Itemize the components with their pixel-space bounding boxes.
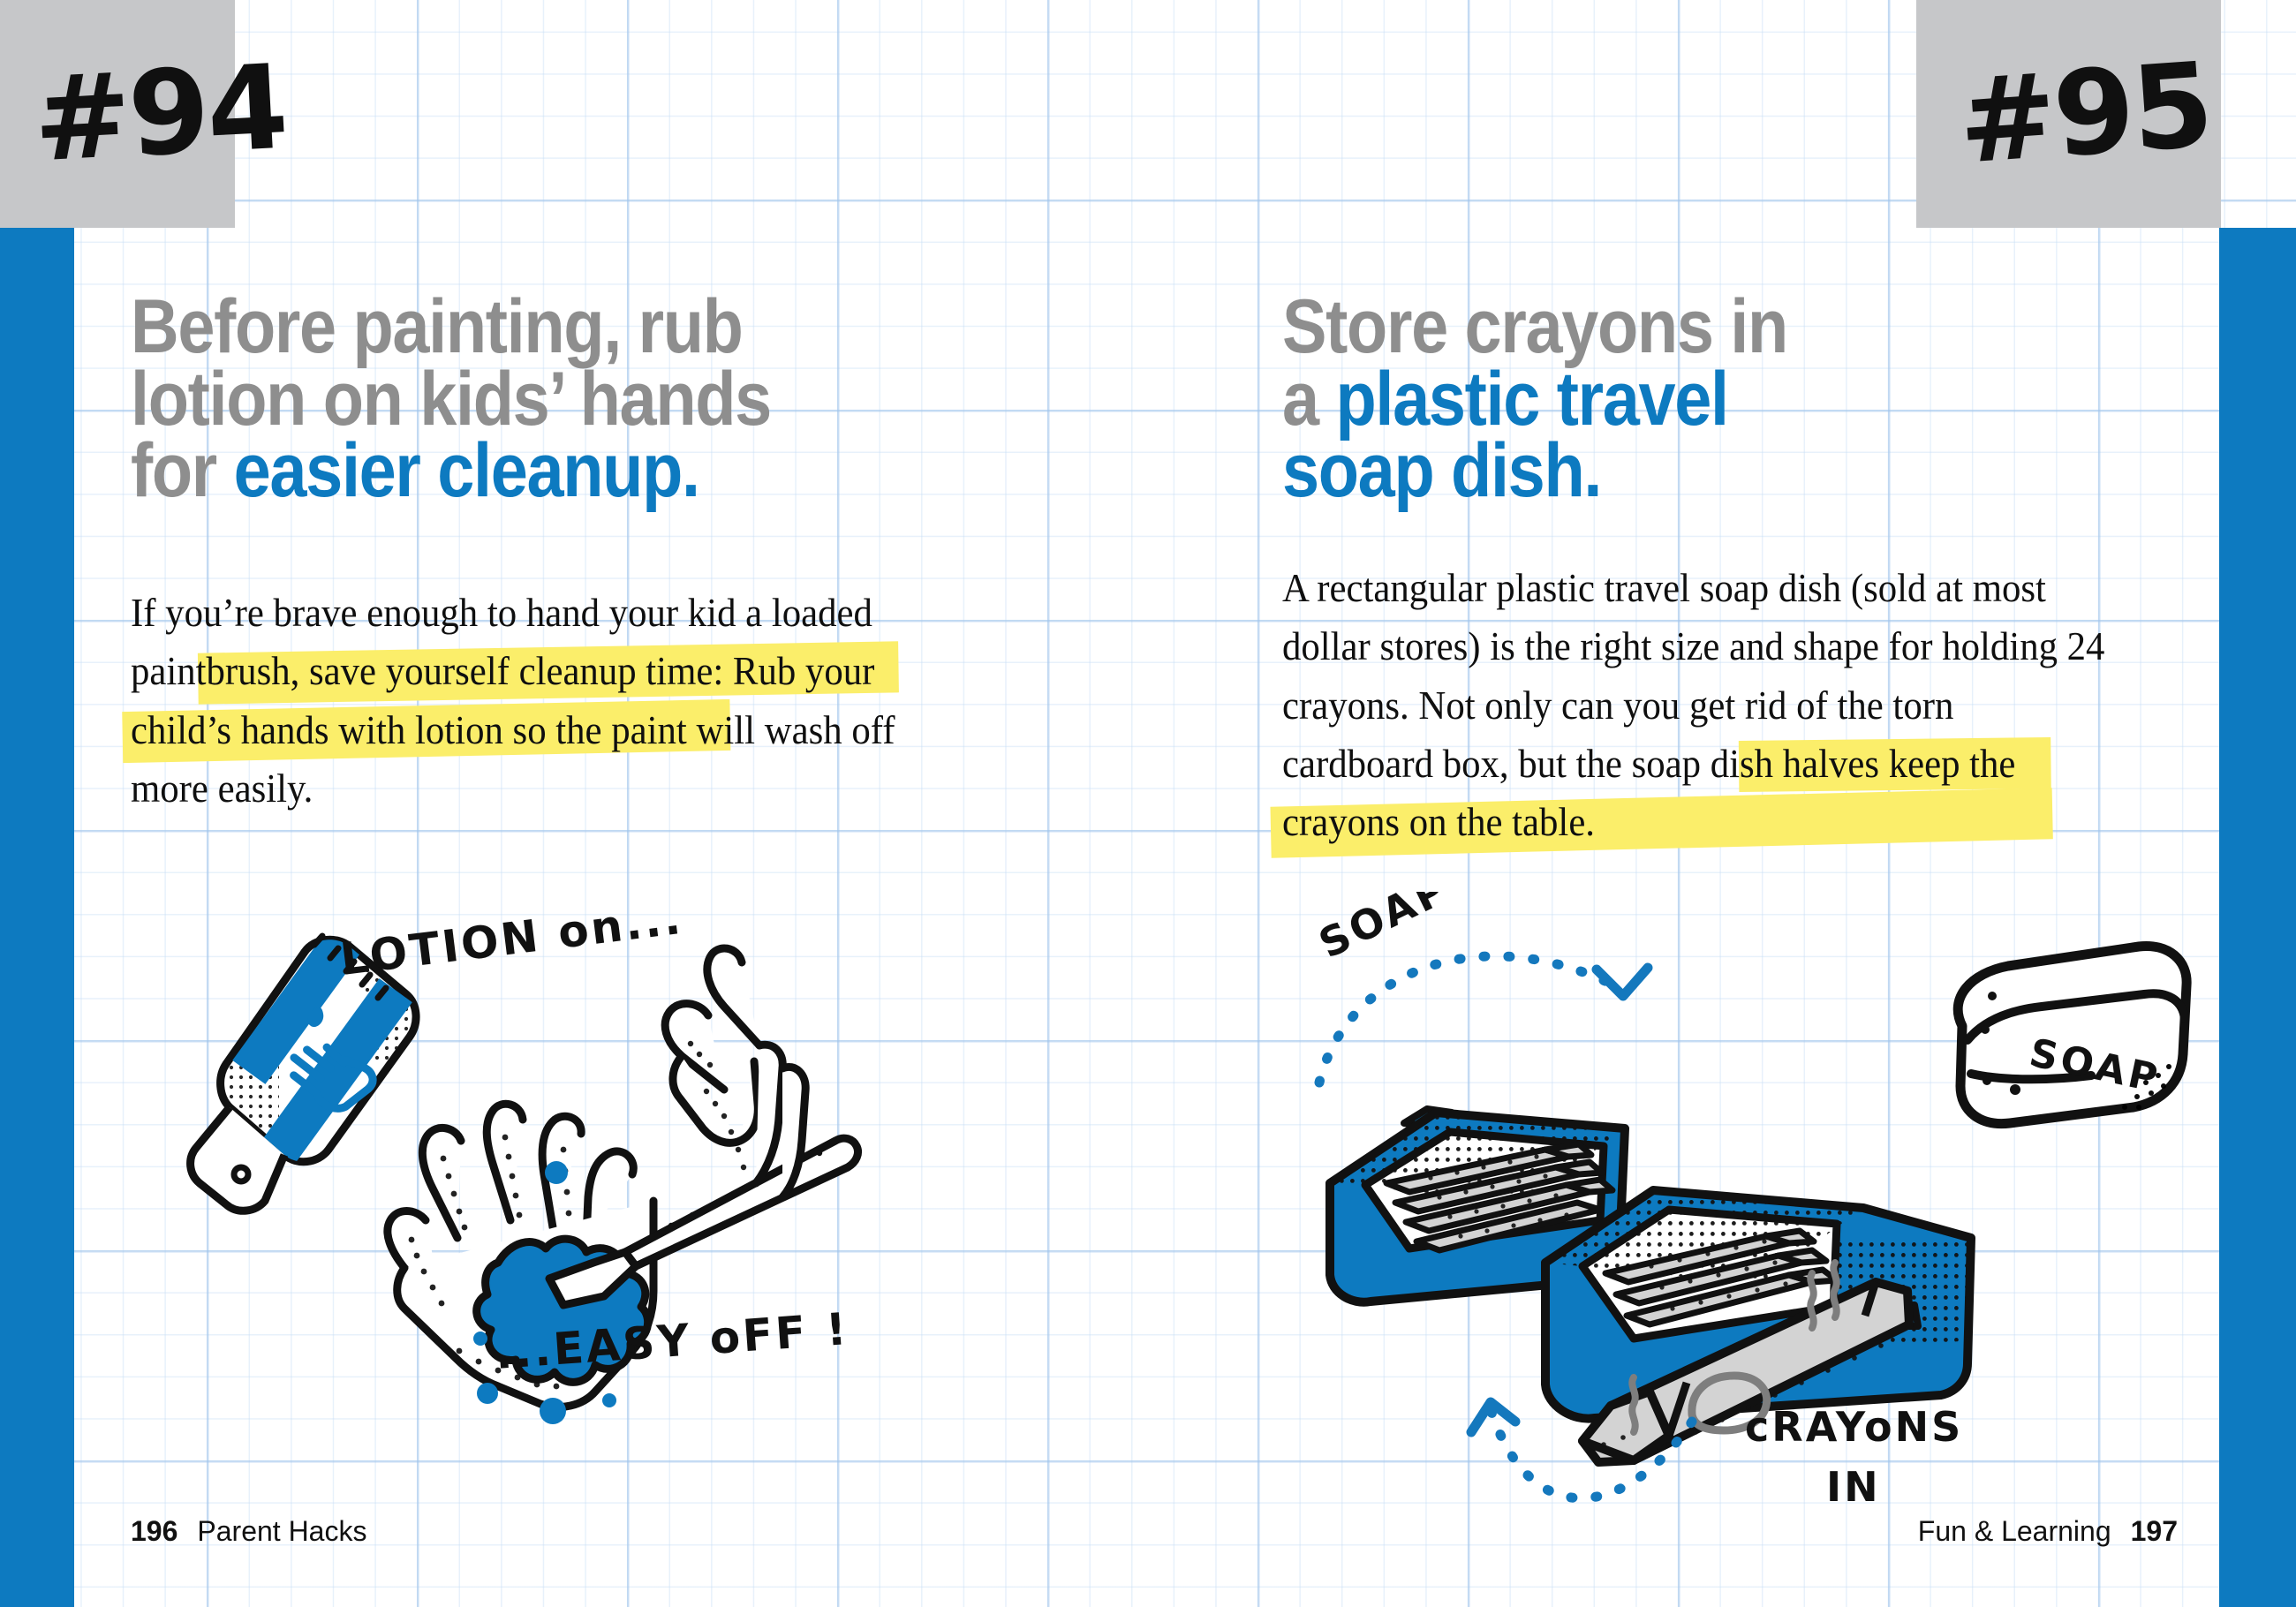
book-spread-page: #94 #95 Before painting, rub lotion on k… <box>0 0 2296 1607</box>
page-title-right: Store crayons in a plastic travel soap d… <box>1282 291 2067 508</box>
page-title-left: Before painting, rub lotion on kids’ han… <box>131 291 916 508</box>
body-paragraph-left: If you’re brave enough to hand your kid … <box>131 584 960 818</box>
left-page-column: Before painting, rub lotion on kids’ han… <box>131 291 1023 818</box>
hack-number-badge-right: #95 <box>1916 0 2221 228</box>
right-edge-blue-bar <box>2219 228 2296 1607</box>
footer-label-right: Fun & Learning <box>1918 1515 2111 1548</box>
illustration-left: LOTION on... ...EASY oFF ! <box>141 909 1042 1444</box>
hack-number-left: #94 <box>31 49 289 179</box>
headline-accent-right-b: soap dish. <box>1282 428 1601 513</box>
label-crayons: cRAYoNS <box>1745 1403 1963 1451</box>
pinching-hand-icon <box>665 948 805 1197</box>
hack-number-right: #95 <box>1955 47 2215 181</box>
dotted-arrow-soap-out <box>1319 956 1648 1083</box>
label-lotion-on: LOTION on... <box>337 909 685 985</box>
footer-right: Fun & Learning 197 <box>0 1515 2178 1548</box>
page-number-right: 197 <box>2131 1515 2178 1548</box>
bar-of-soap-icon: SOAP <box>1958 946 2186 1123</box>
illustration-right: SOAP <box>1254 892 2208 1514</box>
right-page-column: Store crayons in a plastic travel soap d… <box>1282 291 2174 851</box>
hack-number-badge-left: #94 <box>0 0 235 228</box>
headline-accent-left: easier cleanup. <box>234 428 699 513</box>
label-in: IN <box>1826 1463 1881 1510</box>
body-paragraph-right: A rectangular plastic travel soap dish (… <box>1282 559 2111 851</box>
headline-line-3-prefix: for <box>131 428 234 513</box>
left-edge-blue-bar <box>0 228 74 1607</box>
